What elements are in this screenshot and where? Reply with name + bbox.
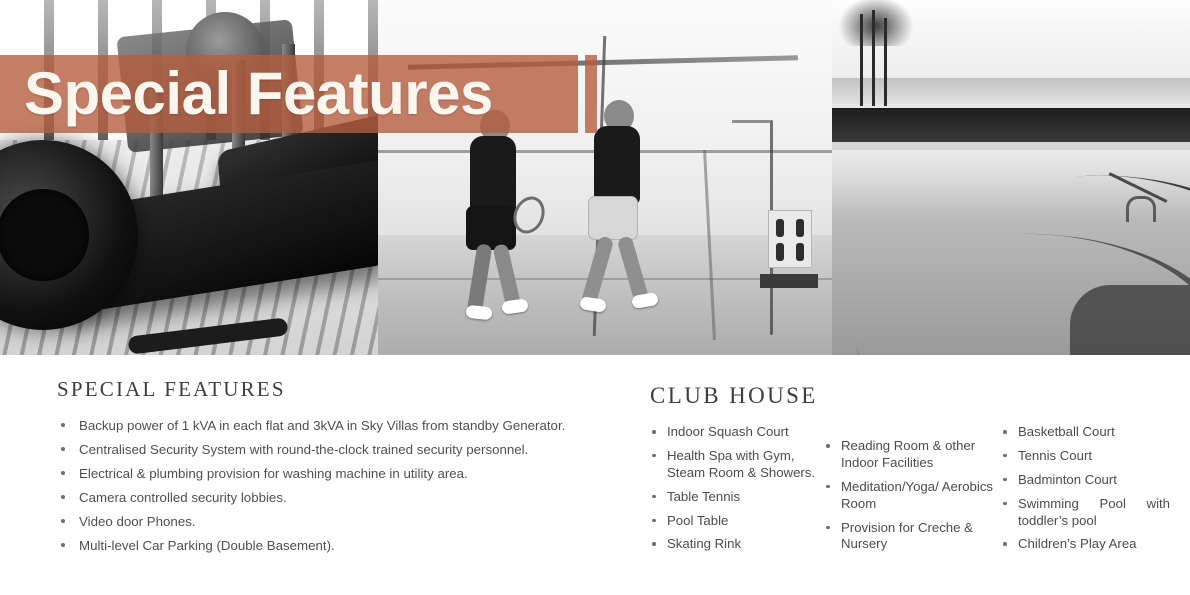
banner-accent-tick: [585, 55, 597, 133]
player-shoe-left: [465, 305, 492, 321]
list-item: Skating Rink: [650, 536, 824, 553]
pool-deck-shadow: [1070, 285, 1190, 355]
list-item: Badminton Court: [1001, 472, 1170, 489]
special-features-section: SPECIAL FEATURES Backup power of 1 kVA i…: [57, 377, 597, 561]
special-features-list: Backup power of 1 kVA in each flat and 3…: [57, 417, 597, 555]
list-item: Electrical & plumbing provision for wash…: [57, 465, 597, 483]
pool-treeline: [832, 108, 1190, 142]
pool-tree-canopy: [838, 0, 914, 46]
player-torso: [470, 136, 516, 214]
gym-photo: [0, 0, 378, 355]
list-item: Backup power of 1 kVA in each flat and 3…: [57, 417, 597, 435]
list-item: Swimming Pool with toddler’s pool: [1001, 496, 1170, 530]
list-item: Video door Phones.: [57, 513, 597, 531]
list-item: Health Spa with Gym, Steam Room & Shower…: [650, 448, 824, 482]
list-item: Table Tennis: [650, 489, 824, 506]
player-torso: [594, 126, 640, 204]
club-house-column-2: Reading Room & other Indoor Facilities M…: [824, 424, 1001, 560]
squash-wall-plaque: [760, 274, 818, 288]
swimming-pool-photo: [832, 0, 1190, 355]
list-item: Provision for Creche & Nursery: [824, 520, 1001, 554]
hero-image-strip: [0, 0, 1190, 355]
list-item: Indoor Squash Court: [650, 424, 824, 441]
club-house-section: CLUB HOUSE Indoor Squash Court Health Sp…: [650, 383, 1170, 560]
club-house-column-3: Basketball Court Tennis Court Badminton …: [1001, 424, 1170, 560]
pool-handrail-loop: [1126, 196, 1156, 222]
list-item: Basketball Court: [1001, 424, 1170, 441]
page-title-banner: Special Features: [0, 55, 578, 133]
list-item: Reading Room & other Indoor Facilities: [824, 438, 1001, 472]
page-title: Special Features: [0, 64, 493, 124]
pool-tree-trunk-1: [860, 14, 863, 106]
list-item: Meditation/Yoga/ Aerobics Room: [824, 479, 1001, 513]
content-area: SPECIAL FEATURES Backup power of 1 kVA i…: [0, 355, 1190, 595]
list-item: Centralised Security System with round-t…: [57, 441, 597, 459]
player-shorts: [588, 196, 638, 240]
squash-court-photo: [378, 0, 832, 355]
list-item: Tennis Court: [1001, 448, 1170, 465]
list-item: Children’s Play Area: [1001, 536, 1170, 553]
pool-tree-trunk-2: [872, 10, 875, 106]
list-item: Pool Table: [650, 513, 824, 530]
list-item: Camera controlled security lobbies.: [57, 489, 597, 507]
club-house-columns: Indoor Squash Court Health Spa with Gym,…: [650, 424, 1170, 560]
pool-tree-trunk-3: [884, 18, 887, 106]
brochure-page: Special Features SPECIAL FEATURES Backup…: [0, 0, 1190, 595]
club-house-column-1: Indoor Squash Court Health Spa with Gym,…: [650, 424, 824, 560]
list-item: Multi-level Car Parking (Double Basement…: [57, 537, 597, 555]
squash-wall-sign: [768, 210, 812, 268]
player-shorts: [466, 206, 516, 250]
special-features-heading: SPECIAL FEATURES: [57, 377, 597, 402]
club-house-heading: CLUB HOUSE: [650, 383, 1170, 409]
